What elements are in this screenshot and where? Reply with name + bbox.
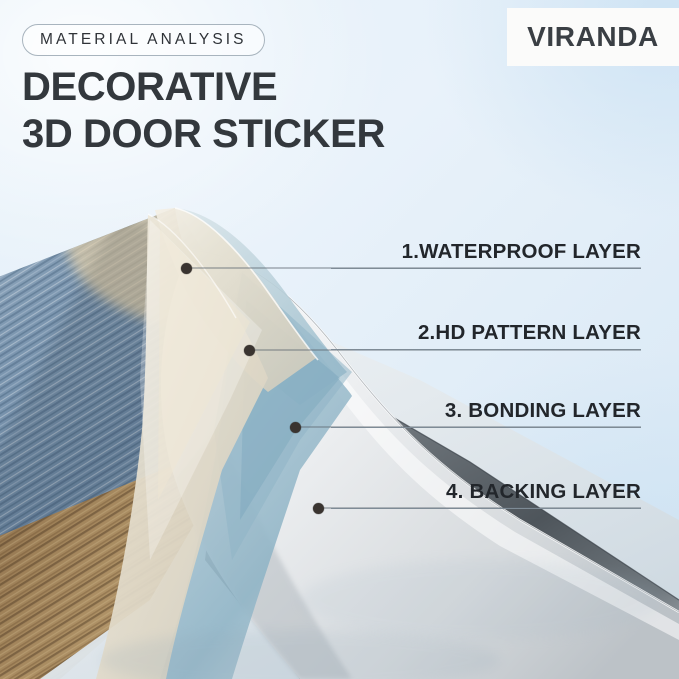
layer-callouts: 1.WATERPROOF LAYER 2.HD PATTERN LAYER 3.… <box>0 0 679 679</box>
callout-bonding: 3. BONDING LAYER <box>331 399 641 428</box>
callout-dot-backing <box>313 503 324 514</box>
callout-waterproof-label: 1.WATERPROOF LAYER <box>402 240 641 263</box>
callout-backing-label: 4. BACKING LAYER <box>446 480 641 503</box>
callout-hd-pattern: 2.HD PATTERN LAYER <box>331 321 641 350</box>
material-analysis-infographic: MATERIAL ANALYSIS DECORATIVE 3D DOOR STI… <box>0 0 679 679</box>
callout-dot-hd-pattern <box>244 345 255 356</box>
callout-dot-waterproof <box>181 263 192 274</box>
callout-bonding-label: 3. BONDING LAYER <box>445 399 641 422</box>
callout-waterproof: 1.WATERPROOF LAYER <box>331 240 641 269</box>
callout-backing: 4. BACKING LAYER <box>331 480 641 509</box>
callout-hd-pattern-label: 2.HD PATTERN LAYER <box>418 321 641 344</box>
callout-dot-bonding <box>290 422 301 433</box>
